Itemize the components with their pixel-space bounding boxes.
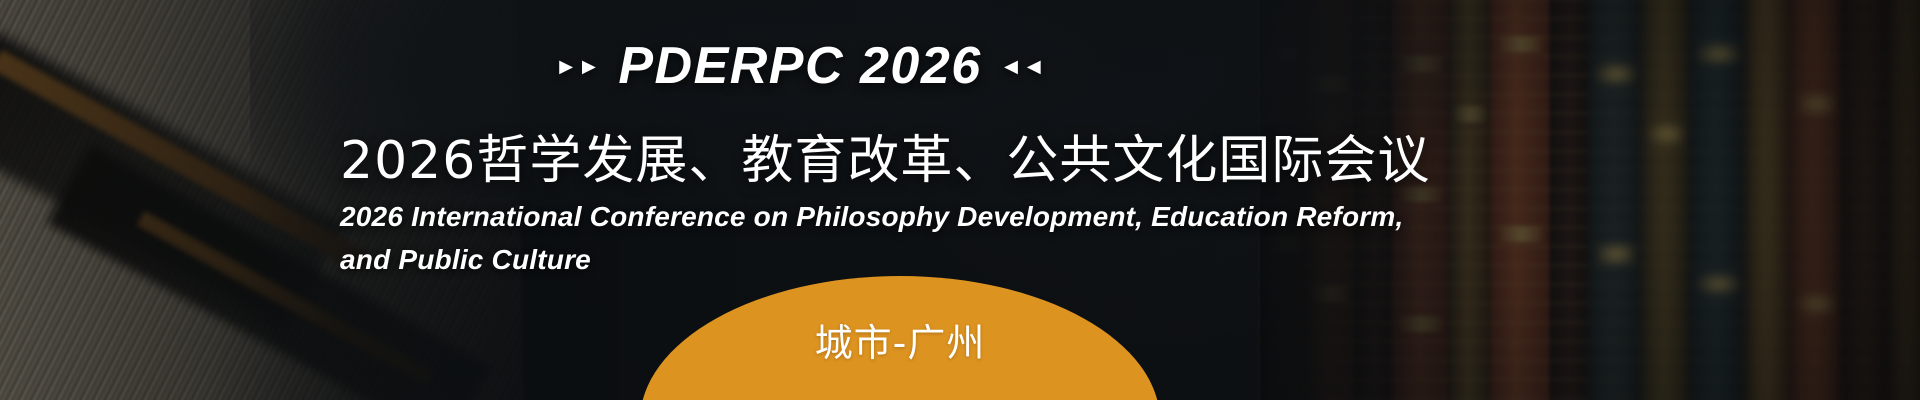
acronym-title-row: ►► PDERPC 2026 ◄◄ [340,36,1260,96]
left-arrows-icon: ►► [555,55,601,78]
conference-banner: ►► PDERPC 2026 ◄◄ 2026哲学发展、教育改革、公共文化国际会议… [0,0,1920,400]
city-badge-label: 城市-广州 [640,276,1160,367]
chinese-conference-title: 2026哲学发展、教育改革、公共文化国际会议 [340,118,1580,193]
page-title: PDERPC 2026 [618,36,981,96]
right-arrows-icon: ◄◄ [1000,55,1046,78]
english-conference-subtitle: 2026 International Conference on Philoso… [340,196,1600,281]
english-subtitle-line-1: 2026 International Conference on Philoso… [340,196,1600,239]
english-subtitle-line-2: and Public Culture [340,239,1600,282]
